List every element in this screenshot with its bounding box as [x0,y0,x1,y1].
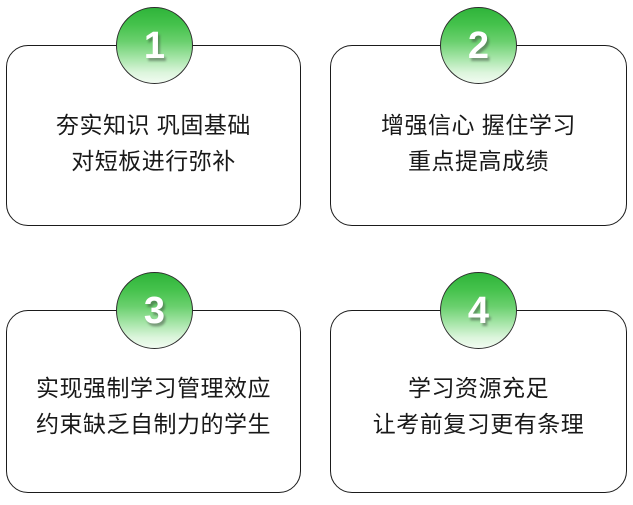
infographic-canvas: 夯实知识 巩固基础 对短板进行弥补 1 增强信心 握住学习 重点提高成绩 2 实… [0,0,633,505]
badge-number-4: 4 [468,292,489,330]
card-4-line-1: 学习资源充足 [331,370,626,406]
card-2-line-1: 增强信心 握住学习 [331,107,626,143]
badge-circle-2: 2 [440,7,517,84]
card-1-line-2: 对短板进行弥补 [7,143,300,179]
card-4-line-2: 让考前复习更有条理 [331,406,626,442]
card-3-line-2: 约束缺乏自制力的学生 [7,406,300,442]
card-4-text: 学习资源充足 让考前复习更有条理 [331,370,626,442]
badge-circle-3: 3 [116,272,193,349]
card-3-line-1: 实现强制学习管理效应 [7,370,300,406]
badge-circle-1: 1 [116,7,193,84]
badge-number-3: 3 [144,292,165,330]
card-2-line-2: 重点提高成绩 [331,143,626,179]
card-1-line-1: 夯实知识 巩固基础 [7,107,300,143]
card-2-text: 增强信心 握住学习 重点提高成绩 [331,107,626,179]
card-3-text: 实现强制学习管理效应 约束缺乏自制力的学生 [7,370,300,442]
card-1-text: 夯实知识 巩固基础 对短板进行弥补 [7,107,300,179]
badge-number-2: 2 [468,27,489,65]
badge-circle-4: 4 [440,272,517,349]
badge-number-1: 1 [144,27,165,65]
